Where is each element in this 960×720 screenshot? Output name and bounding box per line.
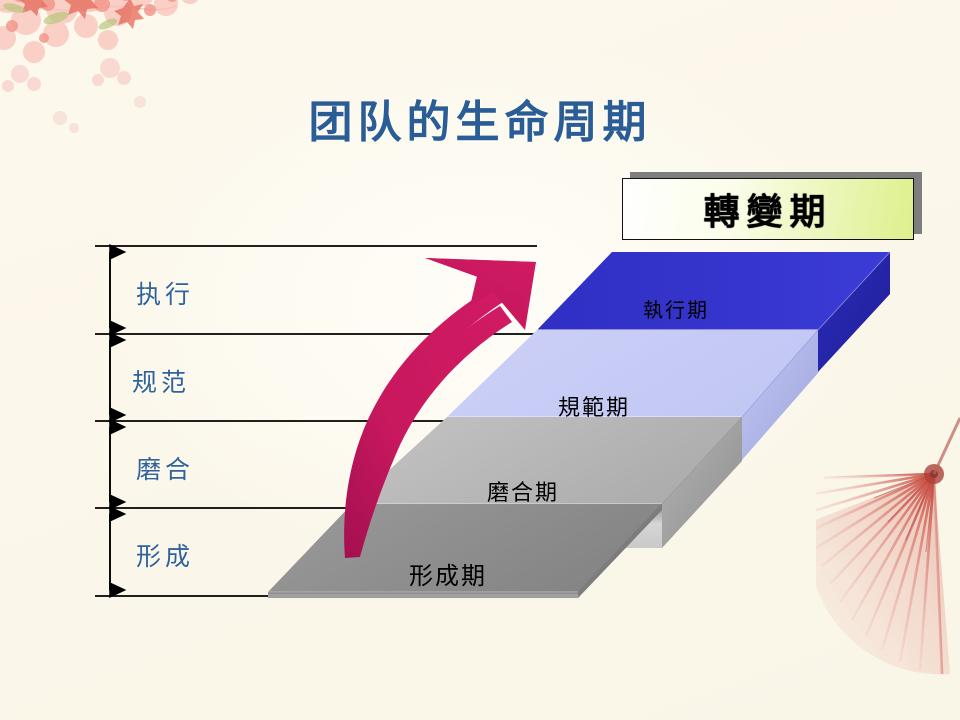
axis-label-storming: 磨合 [136,450,194,486]
step-label-forming: 形成期 [409,556,487,591]
slide-canvas: 团队的生命周期 轉變期 [0,0,960,720]
axis-label-norming: 规范 [132,363,190,399]
axis-label-forming: 形成 [136,537,194,573]
staircase-diagram [0,0,960,720]
step-label-storming: 磨合期 [487,475,559,507]
step-label-norming: 規範期 [558,390,630,422]
axis-label-execution: 执行 [136,275,194,311]
step-label-execution: 執行期 [643,294,709,323]
